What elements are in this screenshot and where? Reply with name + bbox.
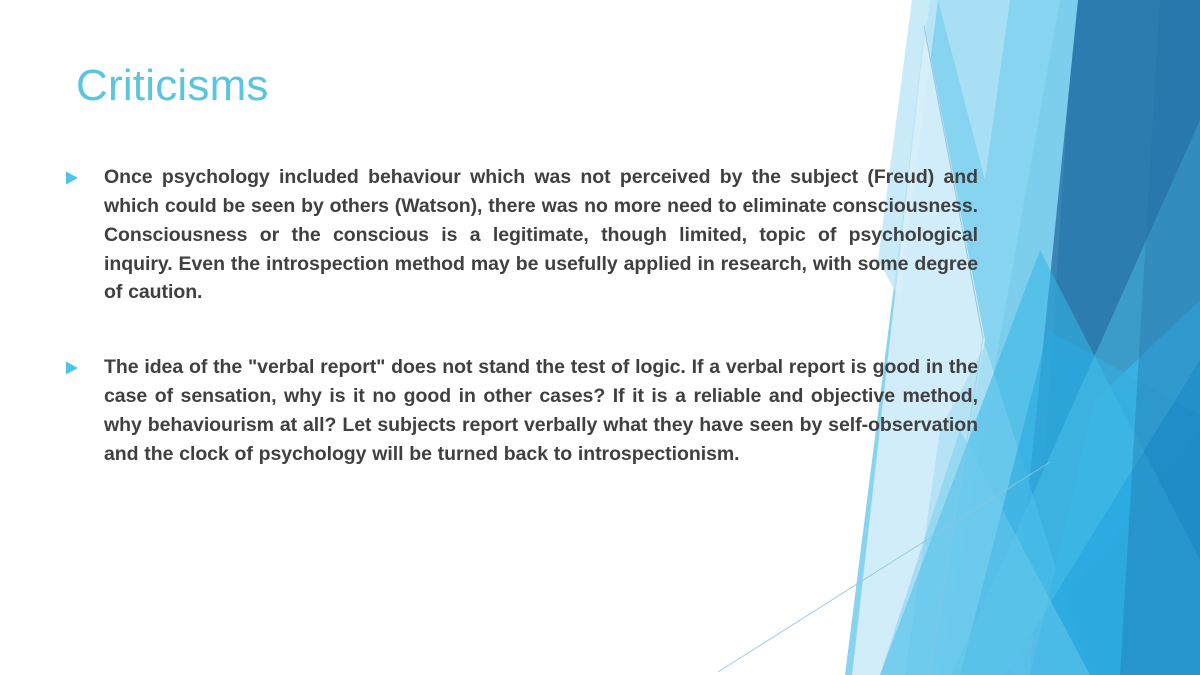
triangle-right-bullet-icon <box>60 353 104 376</box>
slide-title: Criticisms <box>76 62 269 110</box>
decor-shape-overlay-cross <box>952 120 1200 675</box>
decor-shape-dark-accent-edge <box>1120 0 1200 675</box>
decor-shape-dark-right <box>1030 0 1200 675</box>
decor-shape-deep-blue <box>940 0 1200 675</box>
slide-body: Once psychology included behaviour which… <box>60 163 978 469</box>
decor-shape-pale-upper <box>938 0 1010 180</box>
decor-hairline-sweep <box>718 462 1050 672</box>
bullet-text: The idea of the "verbal report" does not… <box>104 353 978 468</box>
decor-shape-bright-lower <box>1030 300 1200 675</box>
triangle-right-bullet-icon <box>60 163 104 186</box>
presentation-slide: Criticisms Once psychology included beha… <box>0 0 1200 675</box>
decor-shape-bright-sweep <box>960 330 1200 675</box>
bullet-item: Once psychology included behaviour which… <box>60 163 978 307</box>
bullet-text: Once psychology included behaviour which… <box>104 163 978 307</box>
bullet-item: The idea of the "verbal report" does not… <box>60 353 978 468</box>
